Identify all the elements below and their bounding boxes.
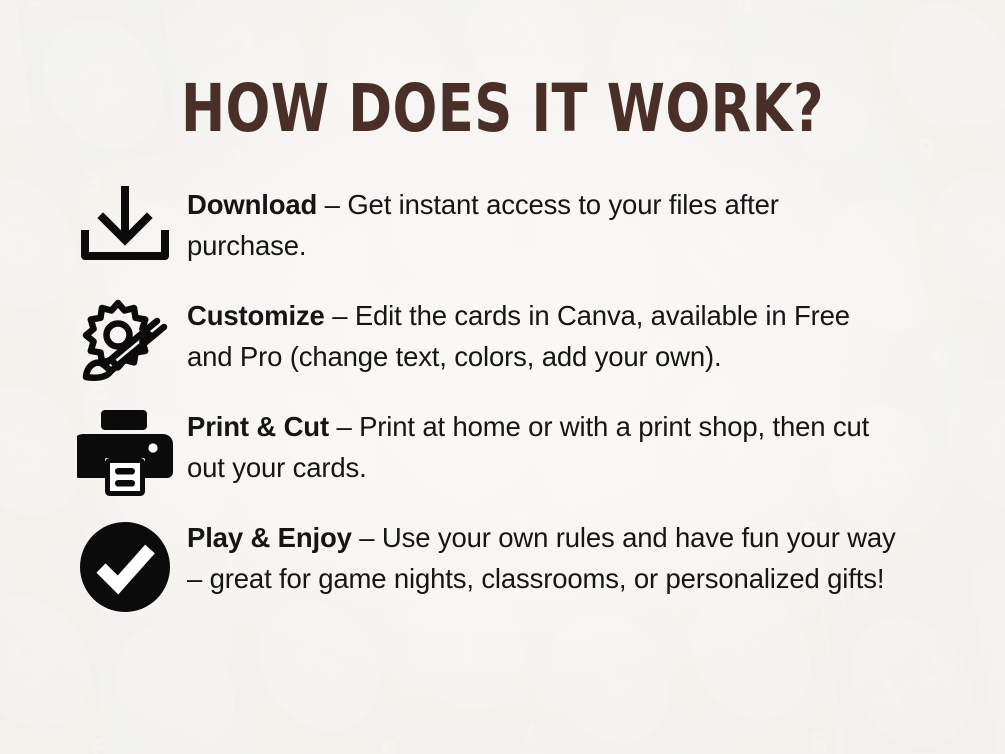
step-separator: – [329, 411, 359, 442]
poster: 2222225553334444444446663333333330000006… [0, 0, 1005, 754]
step-label: Print & Cut [187, 411, 329, 442]
step-separator: – [325, 300, 355, 331]
list-item-download: Download – Get instant access to your fi… [62, 182, 952, 282]
gear-paintbrush-icon [62, 293, 187, 393]
step-label: Customize [187, 300, 325, 331]
step-description: Play & Enjoy – Use your own rules and ha… [187, 515, 897, 599]
download-icon [62, 182, 187, 282]
step-label: Download [187, 189, 317, 220]
list-item-print-and-cut: Print & Cut – Print at home or with a pr… [62, 404, 952, 504]
step-separator: – [352, 522, 382, 553]
step-description: Customize – Edit the cards in Canva, ava… [187, 293, 897, 377]
step-label: Play & Enjoy [187, 522, 352, 553]
step-description: Print & Cut – Print at home or with a pr… [187, 404, 897, 488]
step-description: Download – Get instant access to your fi… [187, 182, 897, 266]
check-circle-icon [62, 515, 187, 615]
poster-content: HOW DOES IT WORK? Download – Get instant… [0, 0, 1005, 754]
list-item-customize: Customize – Edit the cards in Canva, ava… [62, 293, 952, 393]
printer-icon [62, 404, 187, 504]
step-separator: – [317, 189, 347, 220]
list-item-play-and-enjoy: Play & Enjoy – Use your own rules and ha… [62, 515, 952, 615]
steps-list: Download – Get instant access to your fi… [62, 182, 952, 626]
page-title: HOW DOES IT WORK? [101, 76, 905, 142]
